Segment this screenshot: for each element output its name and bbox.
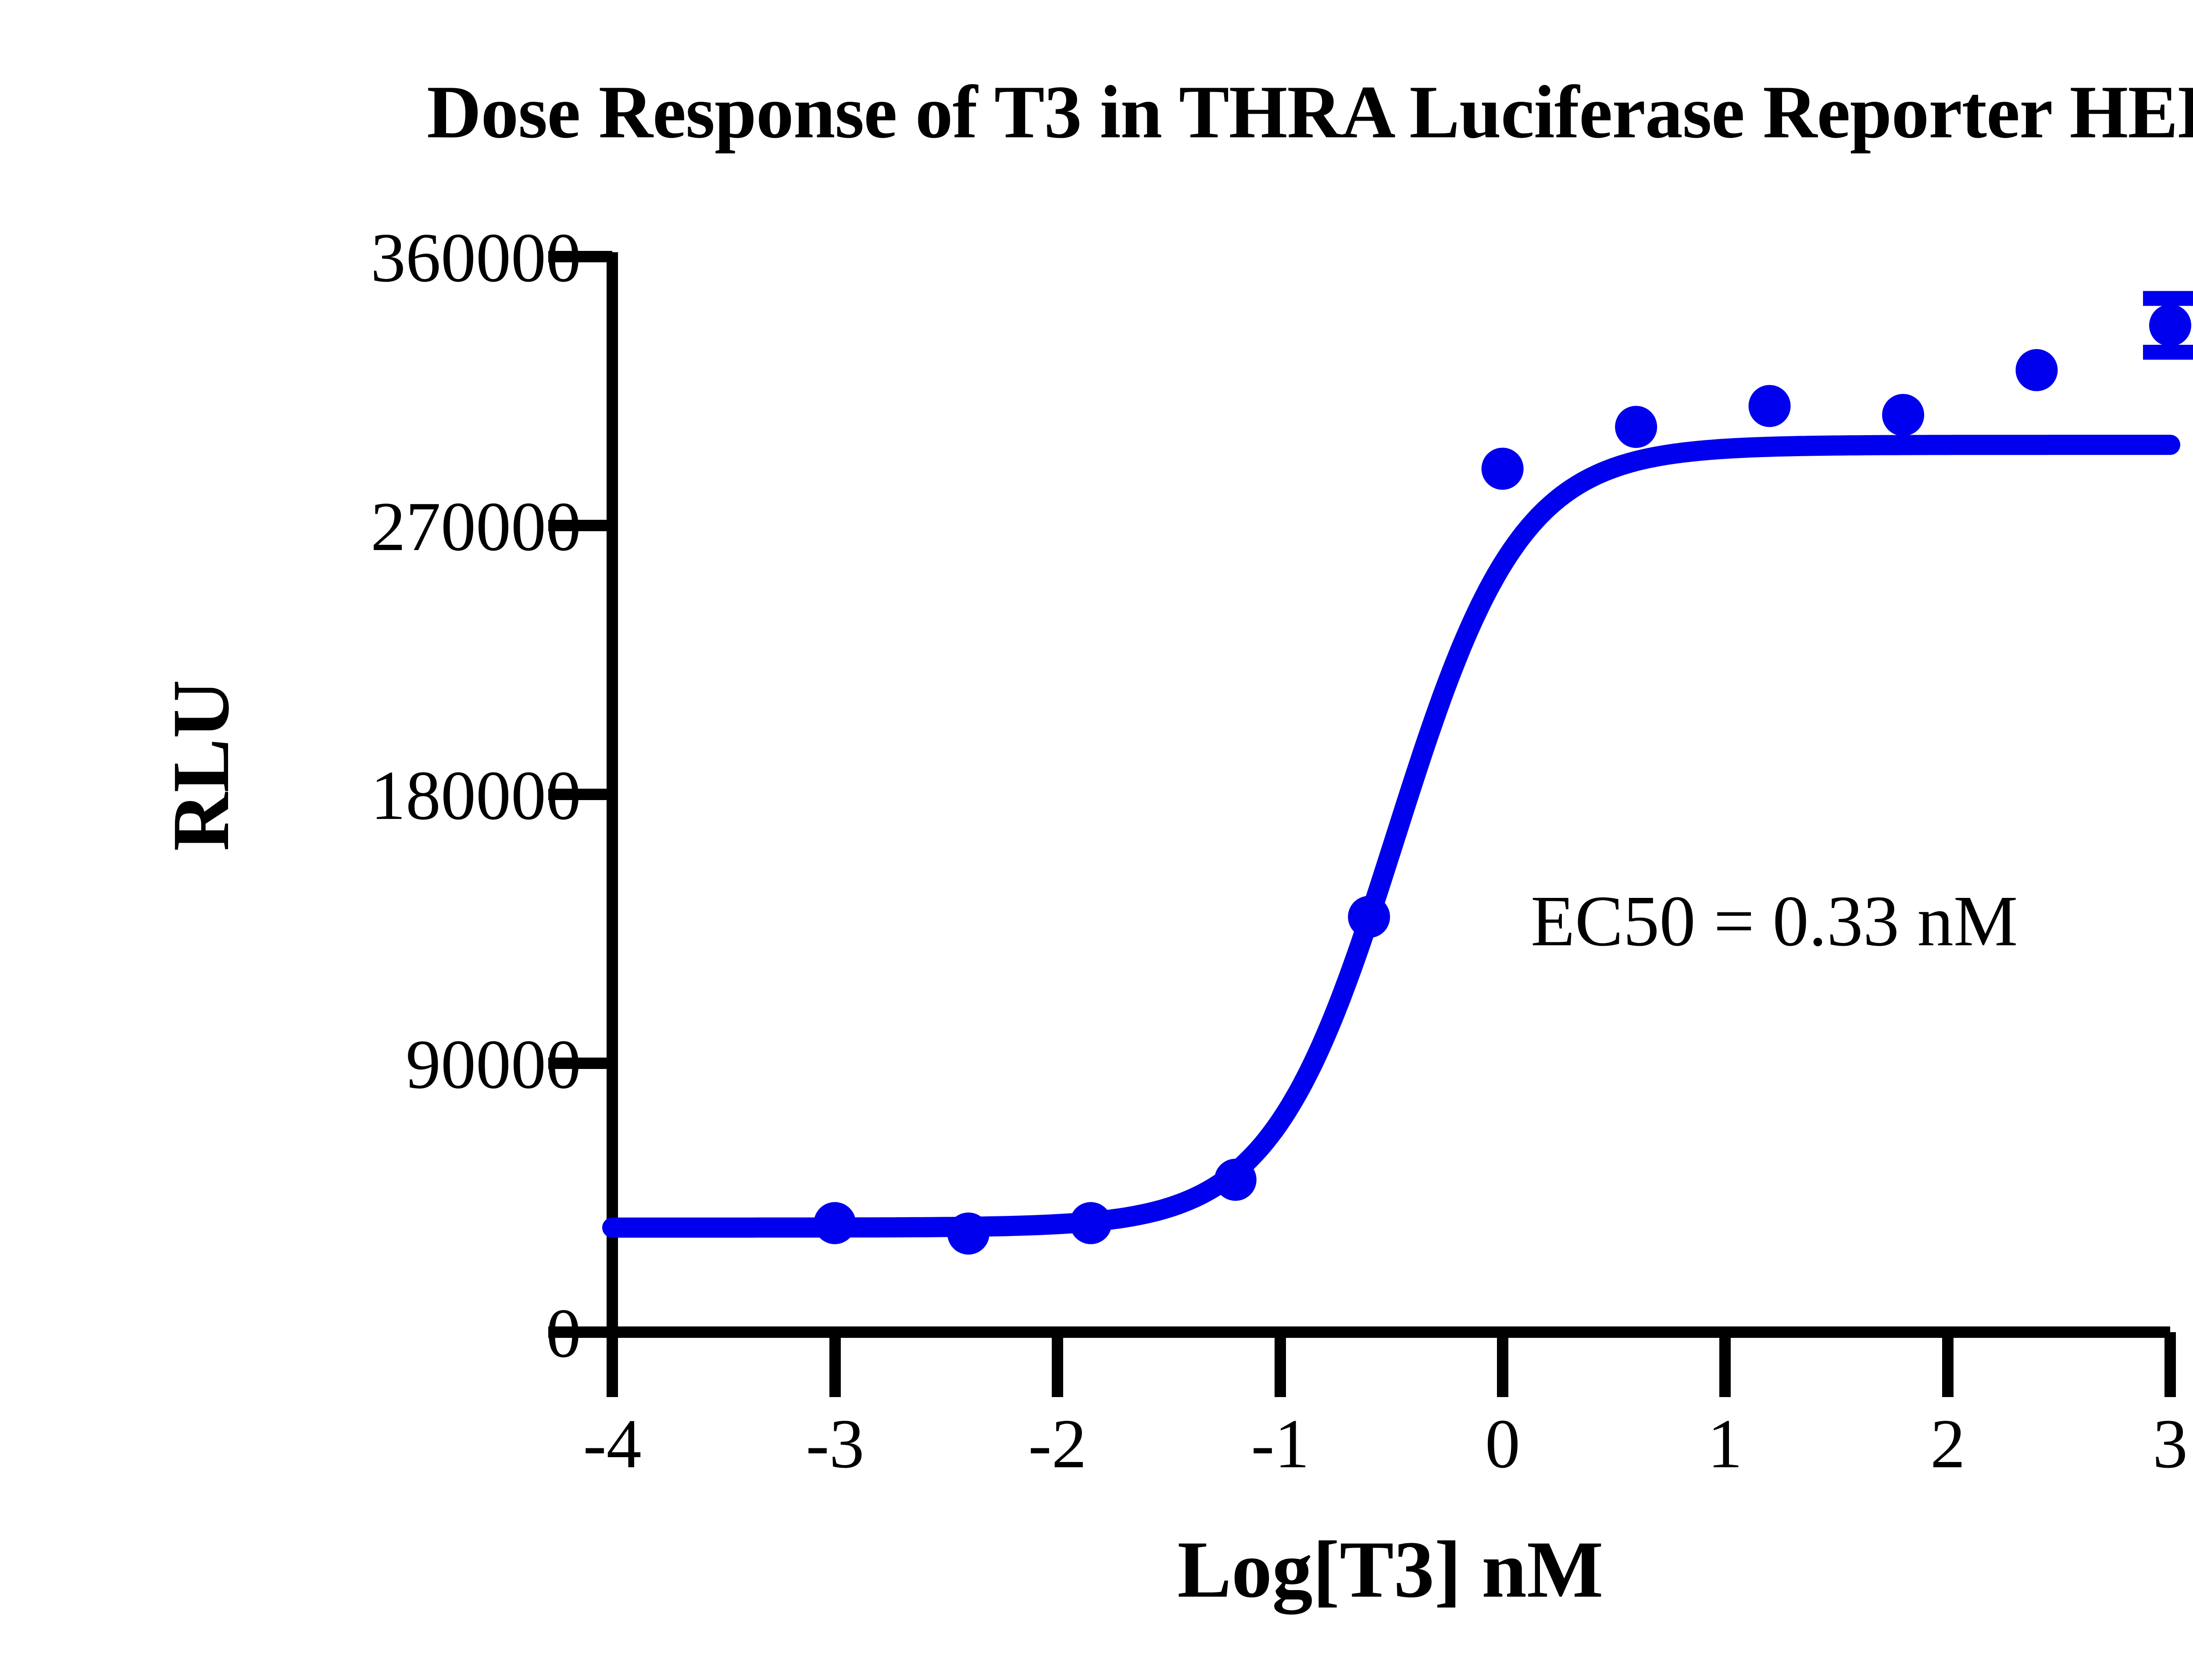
x-tick-label: -4 — [583, 1405, 641, 1483]
y-axis-title: RLU — [156, 680, 246, 851]
data-point-marker — [814, 1202, 856, 1244]
fit-curve — [612, 445, 2170, 1228]
data-point-marker — [1615, 406, 1657, 448]
x-tick-label: -3 — [806, 1405, 864, 1483]
x-tick-labels: -4 -3 -2 -1 0 1 2 3 — [583, 1405, 2188, 1483]
x-tick-label: 3 — [2153, 1405, 2188, 1483]
data-point-marker — [1214, 1159, 1257, 1201]
x-tick-label: -1 — [1251, 1405, 1309, 1483]
ec50-annotation: EC50 = 0.33 nM — [1531, 881, 2018, 961]
x-axis — [607, 1332, 2170, 1397]
data-point-marker — [1749, 385, 1791, 427]
data-point-marker — [1482, 448, 1524, 490]
plot-area: RLU 0 90000 180000 270000 360000 — [0, 0, 2193, 1680]
x-tick-label: 0 — [1485, 1405, 1520, 1483]
x-tick-label: 2 — [1930, 1405, 1965, 1483]
x-tick-label: 1 — [1707, 1405, 1743, 1483]
x-axis-title: Log[T3] nM — [1177, 1525, 1603, 1615]
data-point-marker — [1882, 394, 1924, 436]
data-point-marker — [2149, 304, 2191, 347]
chart-figure: Dose Response of T3 in THRA Luciferase R… — [0, 0, 2193, 1680]
x-tick-label: -2 — [1028, 1405, 1086, 1483]
data-point-marker — [1348, 896, 1390, 938]
data-point-marker — [2016, 349, 2058, 391]
data-point-marker — [947, 1212, 989, 1255]
data-point-marker — [1070, 1202, 1112, 1244]
